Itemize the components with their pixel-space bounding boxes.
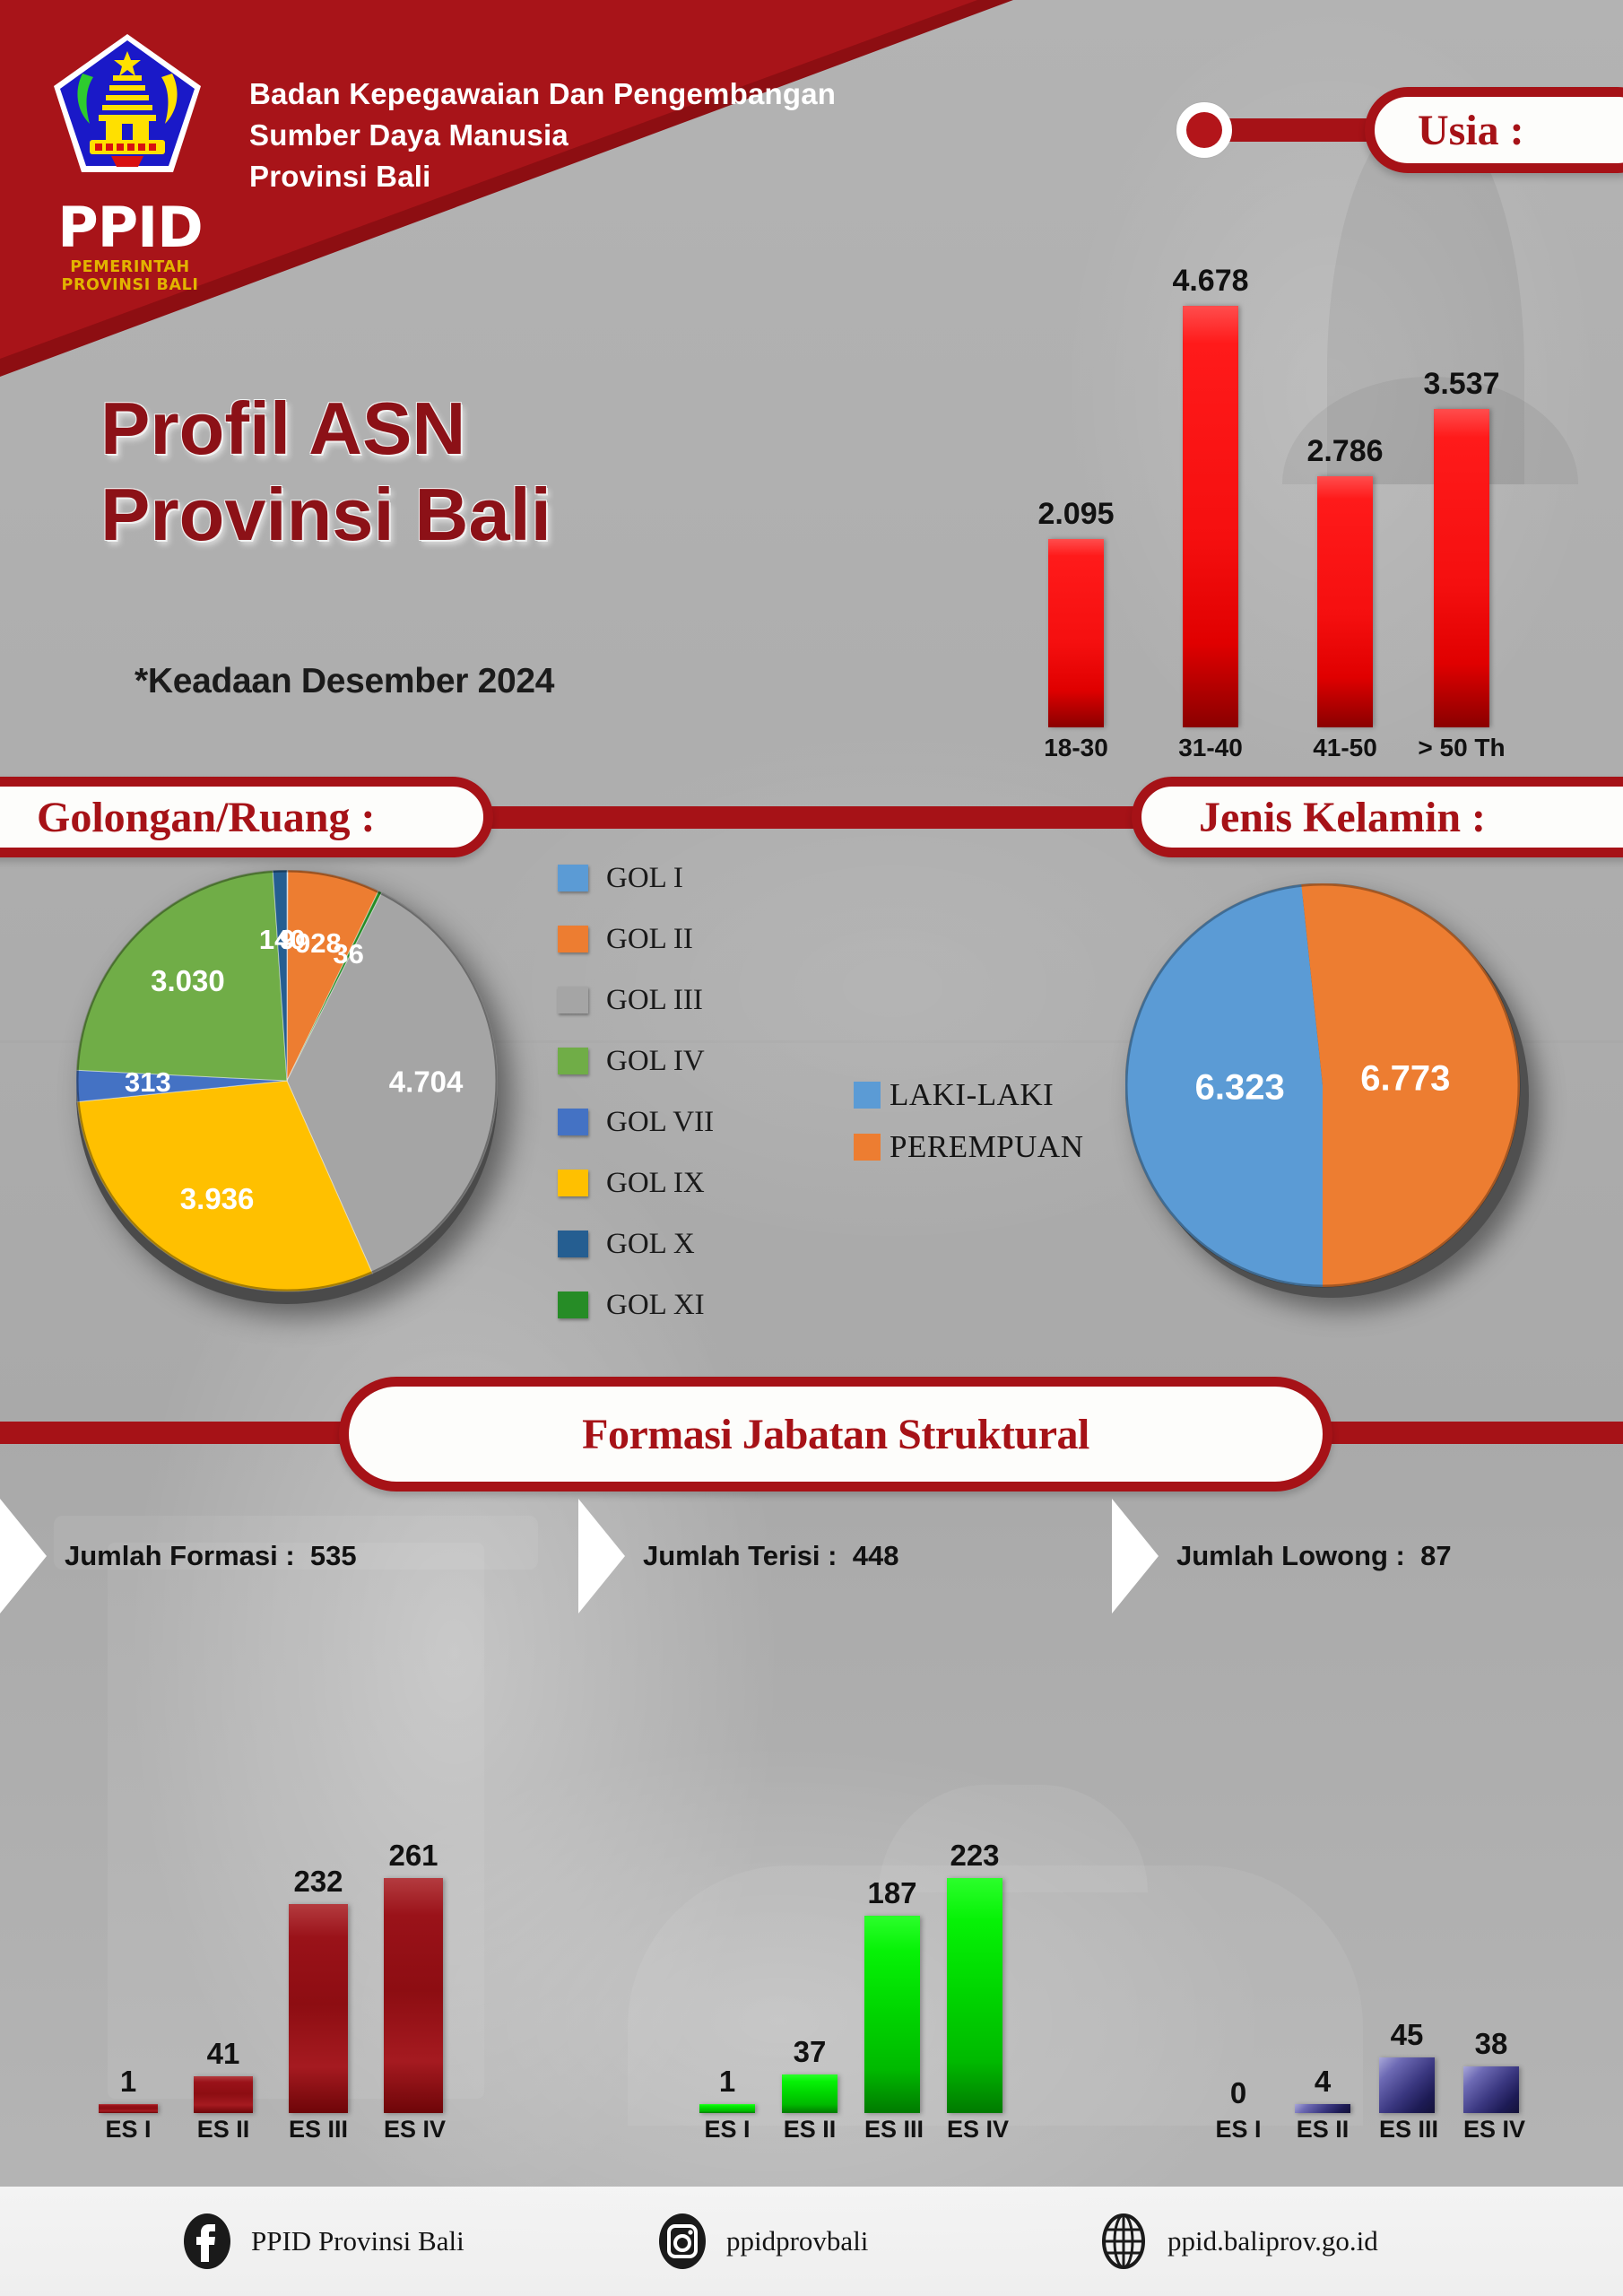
pie-slice-value: 4.704 <box>389 1065 464 1099</box>
usia-bar-group: 4.67831-40 <box>1157 264 1264 762</box>
chart-usia: 2.09518-304.67831-402.78641-503.537> 50 … <box>1022 224 1524 762</box>
legend-swatch-icon <box>558 1048 588 1074</box>
bar-category-label: ES I <box>1211 2116 1266 2144</box>
page-subtitle: *Keadaan Desember 2024 <box>135 662 554 701</box>
bar-category-label: ES IV <box>1463 2116 1519 2144</box>
formasi-stat-item: Jumlah Formasi : 535 <box>0 1498 357 1614</box>
bar-value-label: 187 <box>864 1876 920 1910</box>
bar-category-label: ES III <box>289 2116 348 2144</box>
bar-value-label: 1 <box>699 2065 755 2099</box>
golongan-legend-item: GOL XI <box>558 1274 714 1335</box>
bar <box>384 1878 443 2113</box>
banner-usia: Usia : <box>1365 87 1623 173</box>
legend-swatch-icon <box>558 1109 588 1135</box>
golongan-legend-label: GOL I <box>606 862 683 895</box>
chevron-right-icon <box>0 1499 56 1613</box>
golongan-legend-label: GOL IX <box>606 1167 705 1200</box>
usia-bar-label: 31-40 <box>1157 734 1264 762</box>
banner-golongan-label: Golongan/Ruang : <box>37 793 375 842</box>
usia-bar-value: 2.095 <box>1022 497 1130 532</box>
pie-slice-value: 140 <box>259 924 306 955</box>
golongan-legend-label: GOL XI <box>606 1289 705 1322</box>
bar-category-label: ES I <box>699 2116 755 2144</box>
chart-golongan-pie: 9928364.7043.9363133.030140 <box>76 870 516 1309</box>
formasi-terisi-bar-group: 37ES II <box>782 2035 838 2144</box>
globe-icon[interactable] <box>1096 2213 1151 2269</box>
footer-social-item[interactable]: ppidprovbali <box>655 2213 868 2269</box>
golongan-legend-label: GOL IV <box>606 1045 705 1078</box>
bar-value-label: 0 <box>1211 2076 1266 2110</box>
bar-value-label: 45 <box>1379 2018 1435 2052</box>
jenis-kelamin-legend: LAKI-LAKIPEREMPUAN <box>854 1069 1083 1173</box>
pie-slice-value: 36 <box>333 938 363 970</box>
page-title: Profil ASN Provinsi Bali <box>100 386 551 558</box>
bar <box>194 2076 253 2113</box>
golongan-legend-item: GOL I <box>558 848 714 909</box>
banner-jenis-kelamin-label: Jenis Kelamin : <box>1199 793 1486 842</box>
golongan-legend-item: GOL III <box>558 970 714 1031</box>
bar-category-label: ES IV <box>947 2116 1002 2144</box>
formasi-stat-text: Jumlah Lowong : 87 <box>1176 1540 1452 1572</box>
usia-connector-line <box>1215 118 1385 142</box>
bar-value-label: 261 <box>384 1839 443 1873</box>
formasi-terisi-bar-group: 1ES I <box>699 2065 755 2144</box>
bar-category-label: ES IV <box>384 2116 443 2144</box>
formasi-terisi-bar-group: 187ES III <box>864 1876 920 2144</box>
bar-category-label: ES III <box>1379 2116 1435 2144</box>
banner-usia-label: Usia : <box>1418 106 1524 155</box>
golongan-legend-label: GOL X <box>606 1228 695 1261</box>
bar-category-label: ES I <box>99 2116 158 2144</box>
instagram-icon[interactable] <box>655 2213 710 2269</box>
legend-swatch-icon <box>558 926 588 952</box>
jenis-kelamin-legend-item: LAKI-LAKI <box>854 1069 1083 1121</box>
bar-value-label: 38 <box>1463 2027 1519 2061</box>
formasi-connector-right <box>1318 1422 1623 1444</box>
footer-social-label: ppidprovbali <box>726 2225 868 2257</box>
chevron-right-icon <box>578 1499 634 1613</box>
pie-slice-value: 6.773 <box>1360 1059 1450 1099</box>
legend-swatch-icon <box>558 1231 588 1257</box>
legend-swatch-icon <box>558 1291 588 1318</box>
golongan-legend-item: GOL VII <box>558 1091 714 1152</box>
facebook-icon[interactable] <box>179 2213 235 2269</box>
legend-swatch-icon <box>558 987 588 1013</box>
formasi-lowong-bar-group: 0ES I <box>1211 2076 1266 2144</box>
formasi-stats-row: Jumlah Formasi : 535Jumlah Terisi : 448J… <box>0 1498 1623 1614</box>
bar <box>699 2104 755 2113</box>
legend-swatch-icon <box>558 865 588 891</box>
chart-formasi-lowong: 0ES I4ES II45ES III38ES IV <box>1202 1955 1542 2144</box>
bar <box>1379 2057 1435 2113</box>
footer-social-label: ppid.baliprov.go.id <box>1167 2225 1378 2257</box>
footer-social-item[interactable]: ppid.baliprov.go.id <box>1096 2213 1378 2269</box>
legend-swatch-icon <box>854 1134 881 1161</box>
bar-category-label: ES III <box>864 2116 920 2144</box>
bar-value-label: 4 <box>1295 2065 1350 2099</box>
bar <box>289 1904 348 2113</box>
formasi-connector-left <box>0 1422 359 1444</box>
bar <box>99 2104 158 2113</box>
usia-bar-label: 41-50 <box>1291 734 1399 762</box>
usia-bar <box>1048 539 1104 727</box>
golongan-legend-item: GOL X <box>558 1213 714 1274</box>
bar <box>782 2074 838 2113</box>
banner-golongan: Golongan/Ruang : <box>0 777 493 857</box>
pie-slice-value: 3.936 <box>180 1182 255 1215</box>
page-title-line-2: Provinsi Bali <box>100 472 551 558</box>
bar-value-label: 1 <box>99 2065 158 2099</box>
chart-jenis-kelamin-pie: 6.3236.773 <box>1125 883 1547 1296</box>
bar <box>1463 2066 1519 2113</box>
usia-bar-value: 2.786 <box>1291 434 1399 469</box>
formasi-stat-item: Jumlah Terisi : 448 <box>578 1498 898 1614</box>
formasi-jumlah-bar-group: 261ES IV <box>384 1839 443 2144</box>
bar <box>1295 2104 1350 2113</box>
page-title-line-1: Profil ASN <box>100 386 551 472</box>
usia-bar-value: 3.537 <box>1408 367 1515 402</box>
bar-value-label: 232 <box>289 1865 348 1899</box>
banner-jenis-kelamin: Jenis Kelamin : <box>1132 777 1623 857</box>
usia-bar-label: 18-30 <box>1022 734 1130 762</box>
footer-social-label: PPID Provinsi Bali <box>251 2225 464 2257</box>
footer-social-item[interactable]: PPID Provinsi Bali <box>179 2213 464 2269</box>
bar-category-label: ES II <box>1295 2116 1350 2144</box>
usia-bar-group: 2.09518-30 <box>1022 497 1130 762</box>
page-footer: PPID Provinsi Balippidprovbalippid.balip… <box>0 2187 1623 2296</box>
bar-value-label: 37 <box>782 2035 838 2069</box>
pie-slice-value: 313 <box>125 1066 171 1098</box>
formasi-stat-text: Jumlah Terisi : 448 <box>643 1540 898 1572</box>
golongan-legend-label: GOL II <box>606 923 693 956</box>
banner-formasi-jabatan: Formasi Jabatan Struktural <box>339 1377 1332 1492</box>
usia-connector-dot <box>1176 102 1232 158</box>
formasi-jumlah-bar-group: 232ES III <box>289 1865 348 2144</box>
chart-formasi-terisi: 1ES I37ES II187ES III223ES IV <box>690 1758 1049 2144</box>
usia-bar <box>1183 306 1238 727</box>
formasi-lowong-bar-group: 38ES IV <box>1463 2027 1519 2144</box>
golongan-legend-label: GOL III <box>606 984 703 1017</box>
usia-bar-label: > 50 Th <box>1408 734 1515 762</box>
golongan-legend-item: GOL II <box>558 909 714 970</box>
golongan-legend-item: GOL IX <box>558 1152 714 1213</box>
jenis-kelamin-legend-label: LAKI-LAKI <box>890 1077 1054 1113</box>
bar-value-label: 41 <box>194 2037 253 2071</box>
banner-formasi-label: Formasi Jabatan Struktural <box>582 1410 1089 1459</box>
formasi-jumlah-bar-group: 1ES I <box>99 2065 158 2144</box>
formasi-stat-item: Jumlah Lowong : 87 <box>1112 1498 1452 1614</box>
bar-value-label: 223 <box>947 1839 1002 1873</box>
usia-bar-value: 4.678 <box>1157 264 1264 299</box>
usia-bar-group: 2.78641-50 <box>1291 434 1399 762</box>
legend-swatch-icon <box>558 1170 588 1196</box>
golongan-legend-label: GOL VII <box>606 1106 714 1139</box>
jenis-kelamin-legend-label: PEREMPUAN <box>890 1129 1083 1165</box>
golongan-legend: GOL IGOL IIGOL IIIGOL IVGOL VIIGOL IXGOL… <box>558 848 714 1335</box>
jenis-kelamin-legend-item: PEREMPUAN <box>854 1121 1083 1173</box>
formasi-stat-text: Jumlah Formasi : 535 <box>65 1540 357 1572</box>
bar-category-label: ES II <box>782 2116 838 2144</box>
formasi-jumlah-bar-group: 41ES II <box>194 2037 253 2144</box>
bar-category-label: ES II <box>194 2116 253 2144</box>
bar <box>947 1878 1002 2113</box>
formasi-lowong-bar-group: 4ES II <box>1295 2065 1350 2144</box>
golongan-legend-item: GOL IV <box>558 1031 714 1091</box>
legend-swatch-icon <box>854 1082 881 1109</box>
chart-formasi-jumlah: 1ES I41ES II232ES III261ES IV <box>90 1758 511 2144</box>
usia-bar-group: 3.537> 50 Th <box>1408 367 1515 762</box>
usia-bar <box>1434 409 1489 727</box>
formasi-terisi-bar-group: 223ES IV <box>947 1839 1002 2144</box>
pie-slice-value: 3.030 <box>151 964 225 997</box>
pie-slice-value: 6.323 <box>1195 1067 1285 1107</box>
chevron-right-icon <box>1112 1499 1167 1613</box>
bar <box>864 1916 920 2113</box>
usia-bar <box>1317 476 1373 727</box>
formasi-lowong-bar-group: 45ES III <box>1379 2018 1435 2144</box>
